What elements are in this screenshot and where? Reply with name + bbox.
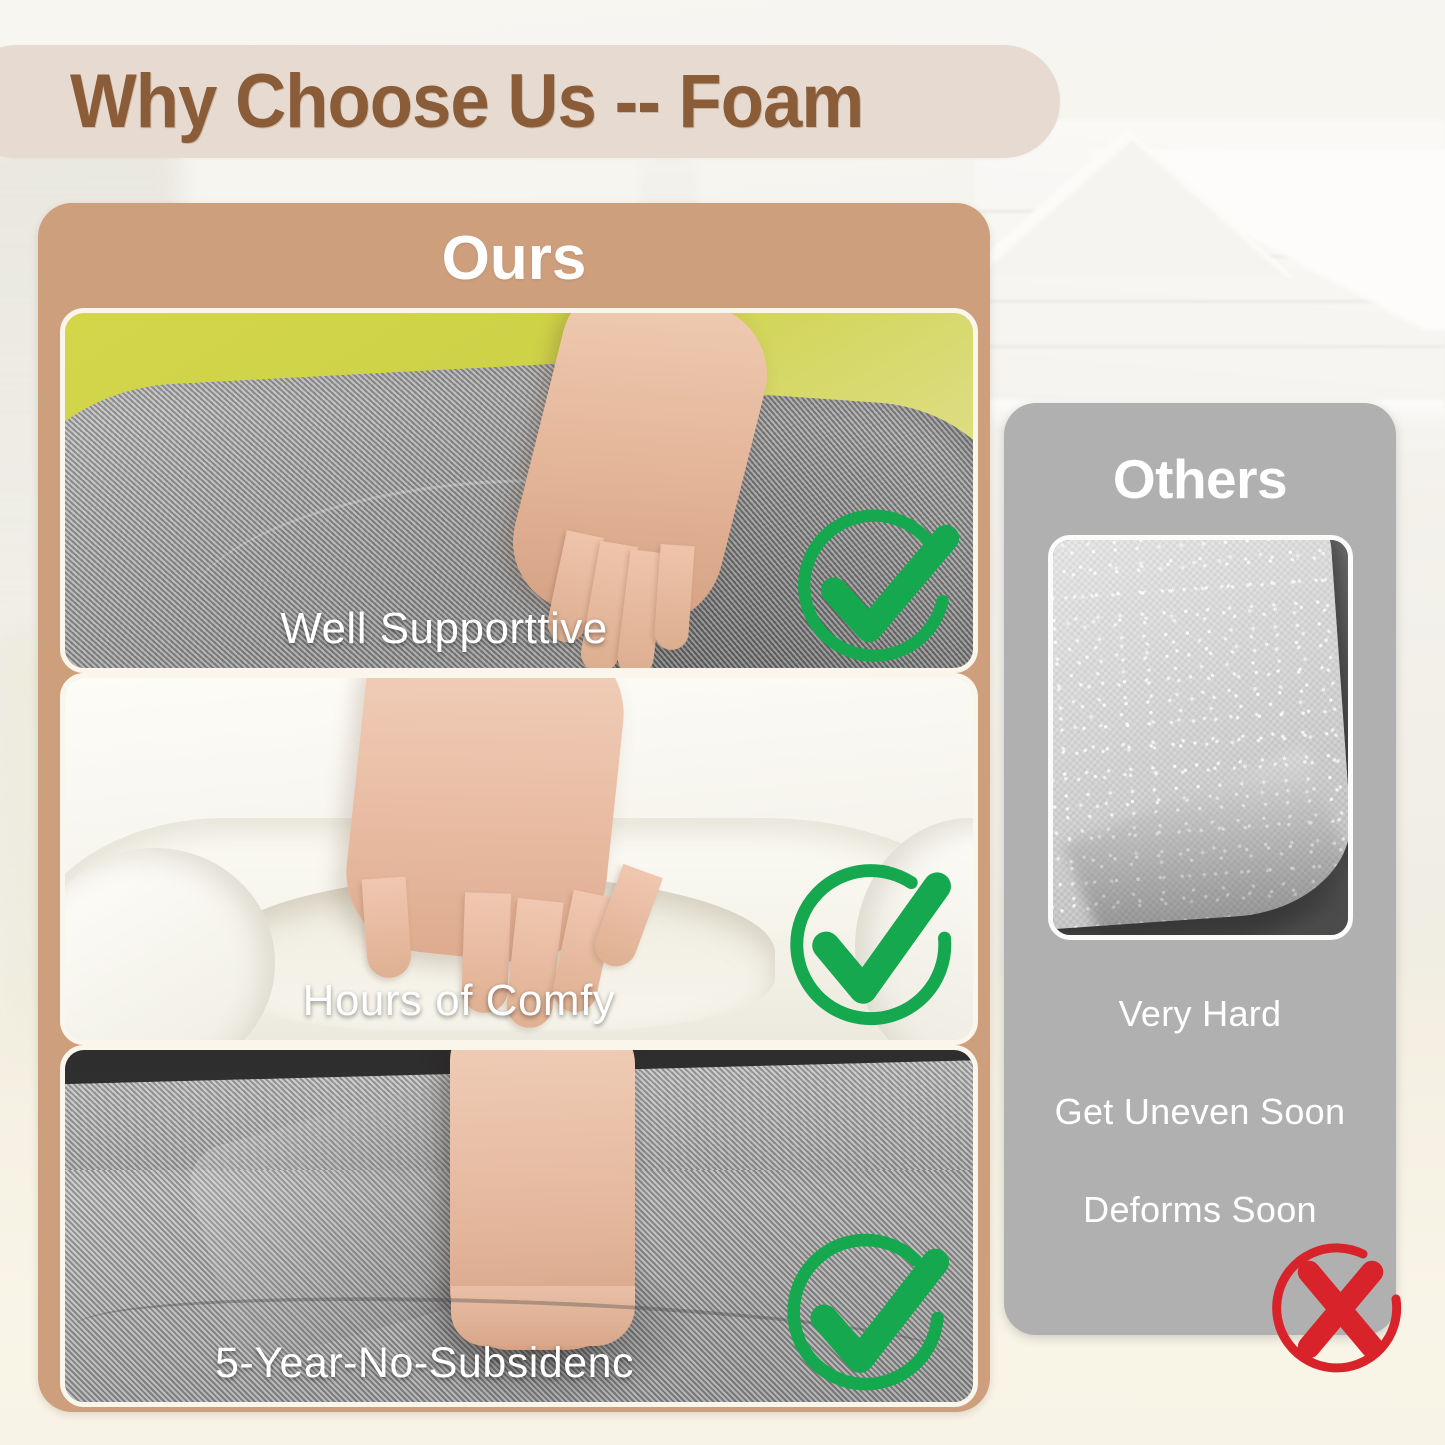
green-check-icon bbox=[792, 503, 967, 673]
ours-feature-card: Well Supporttive bbox=[60, 308, 978, 673]
green-check-icon bbox=[779, 1228, 959, 1407]
page-title: Why Choose Us -- Foam bbox=[70, 58, 863, 145]
others-panel-title: Others bbox=[1004, 447, 1396, 511]
green-check-icon bbox=[778, 853, 963, 1038]
others-foam-photo bbox=[1048, 535, 1353, 940]
ours-panel-title: Ours bbox=[38, 223, 990, 294]
ours-panel: Ours Well Supporttive bbox=[38, 203, 990, 1412]
others-panel: Others Very Hard Get Uneven Soon Deforms… bbox=[1004, 403, 1396, 1335]
others-drawback-item: Get Uneven Soon bbox=[1004, 1091, 1396, 1133]
others-drawback-item: Deforms Soon bbox=[1004, 1189, 1396, 1231]
red-x-icon bbox=[1264, 1233, 1414, 1383]
title-banner: Why Choose Us -- Foam bbox=[0, 45, 1060, 158]
ours-feature-card: Hours of Comfy bbox=[60, 673, 978, 1045]
ours-feature-card: 5-Year-No-Subsidenc bbox=[60, 1045, 978, 1407]
others-drawback-item: Very Hard bbox=[1004, 993, 1396, 1035]
